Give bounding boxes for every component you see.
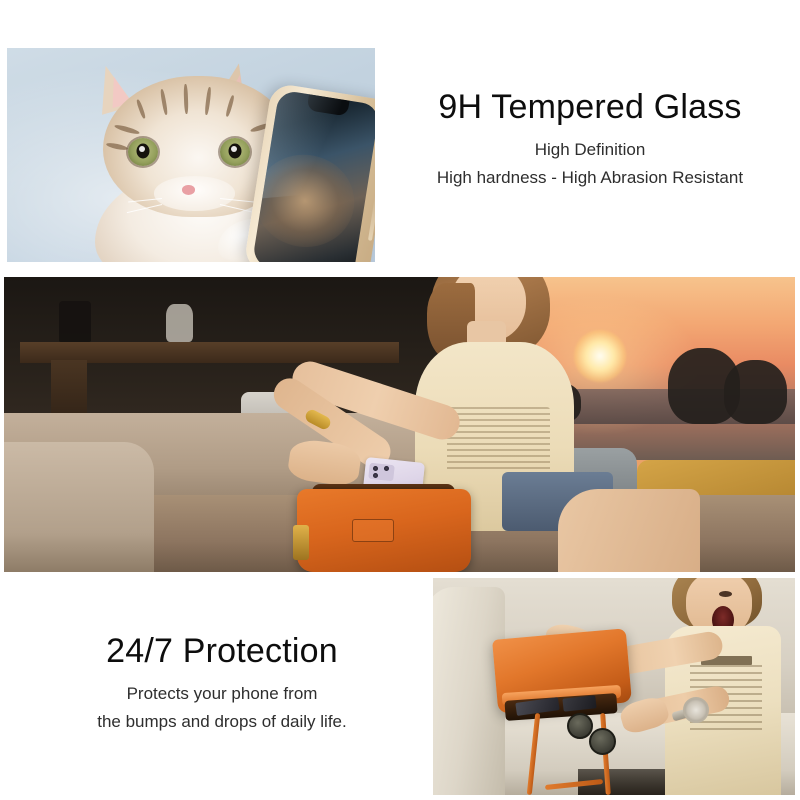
sunglasses-lens <box>567 713 593 739</box>
cat-stripe <box>183 84 188 114</box>
handbag-tag <box>352 519 394 542</box>
startled-woman-eye <box>719 591 732 597</box>
cat-phone-photo <box>7 48 375 262</box>
product-banner: 9H Tempered Glass High Definition High h… <box>0 0 800 800</box>
cat-eye-glint <box>231 146 237 152</box>
phone-side-button <box>368 183 375 241</box>
phone-screen <box>252 89 375 262</box>
sofa-armrest <box>4 442 154 572</box>
tempered-glass-headline: 9H Tempered Glass <box>385 88 795 126</box>
sun-disc <box>574 330 626 382</box>
protection-headline: 24/7 Protection <box>12 632 432 670</box>
bag-drop-photo <box>433 578 795 795</box>
protection-sublines: Protects your phone from the bumps and d… <box>12 680 432 735</box>
tree-silhouette <box>724 360 787 425</box>
tempered-glass-text-block: 9H Tempered Glass High Definition High h… <box>385 88 795 191</box>
protection-subline-2: the bumps and drops of daily life. <box>12 708 432 736</box>
tempered-glass-sublines: High Definition High hardness - High Abr… <box>385 136 795 191</box>
white-jar <box>166 304 193 342</box>
woman-leg <box>558 489 700 572</box>
sunglasses-lens <box>589 728 616 755</box>
cream-sofa-armrest <box>433 587 505 795</box>
handbag-zipper <box>293 525 309 560</box>
dark-vase <box>59 301 91 342</box>
protection-subline-1: Protects your phone from <box>12 680 432 708</box>
protection-text-block: 24/7 Protection Protects your phone from… <box>12 632 432 735</box>
tempered-glass-subline-1: High Definition <box>385 136 795 164</box>
living-room-photo <box>4 277 795 572</box>
cat-eye-glint <box>139 146 145 152</box>
wristwatch <box>683 697 709 723</box>
tank-top-print <box>447 407 550 472</box>
tempered-glass-subline-2: High hardness - High Abrasion Resistant <box>385 164 795 192</box>
